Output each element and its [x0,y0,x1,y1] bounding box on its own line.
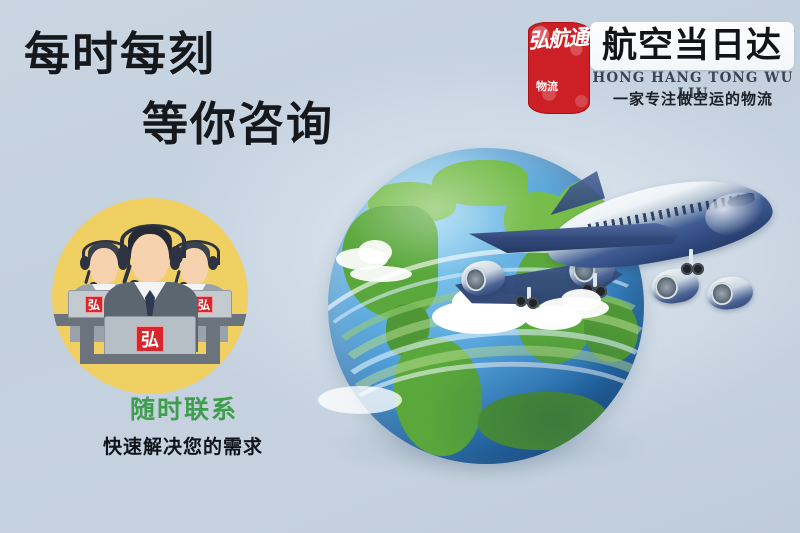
headline-line-1: 每时每刻 [24,28,216,80]
gear-wheel [515,295,527,307]
brand-logo: 弘航通 物流 航空当日达 HONG HANG TONG WU LIU 一家专注做… [524,20,796,120]
gear-wheel [527,297,539,309]
laptop-badge-center: 弘 [136,326,164,352]
headset-earpiece-icon [169,246,183,265]
logo-title: 航空当日达 [592,24,792,68]
engine-intake [463,265,488,292]
cloud [318,386,402,414]
seal-main-text: 弘航通 [528,23,590,83]
headset-earpiece-icon [80,256,90,270]
plane-engine [705,274,755,312]
promo-banner: 每时每刻 等你咨询 弘航通 物流 航空当日达 HONG HANG TONG WU… [0,0,800,533]
laptop-badge-left: 弘 [85,296,103,313]
engine-intake [653,273,679,300]
airplane-illustration [455,165,785,355]
subtitle-contact: 随时联系 [84,390,284,426]
subtitle-needs: 快速解决您的需求 [58,432,308,459]
headset-earpiece-icon [208,256,218,270]
headset-earpiece-icon [117,246,131,265]
desk-base [80,354,220,364]
desk-leg [80,326,94,354]
seal-sub-text: 物流 [532,80,562,93]
plane-nose-gear [681,249,703,279]
agent-head [131,234,169,282]
brand-seal-stamp: 弘航通 物流 [528,22,590,114]
headline-line-2: 等你咨询 [142,98,334,150]
call-center-illustration: 弘 弘 弘 [52,198,248,394]
logo-tagline: 一家专注做空运的物流 [590,90,796,109]
gear-wheel [692,263,704,275]
desk-leg [206,326,220,354]
cloud [561,289,601,311]
call-center-clip: 弘 弘 弘 [52,198,248,394]
engine-intake [709,281,734,306]
